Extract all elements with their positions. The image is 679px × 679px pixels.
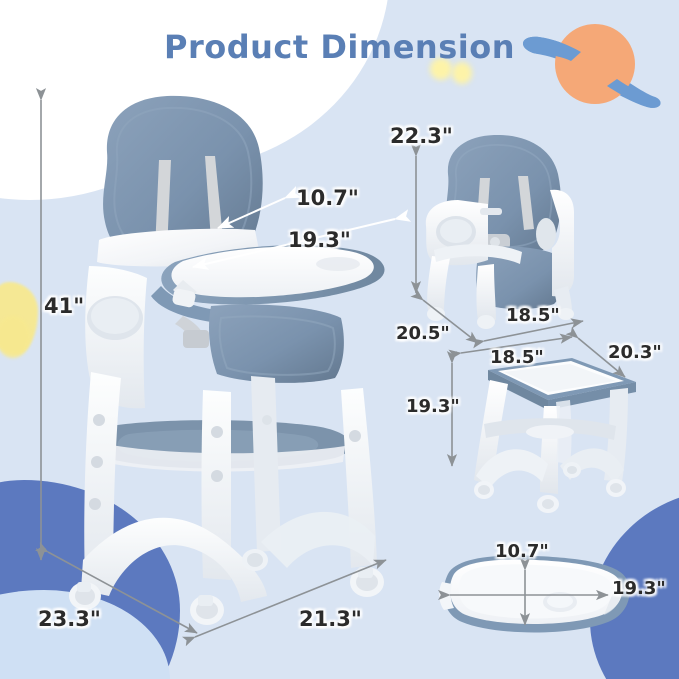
dimension-arrows: .ln { stroke:#8d9296; stroke-width:1.6; … [0, 0, 679, 679]
dimension-label-booster-depth: 20.5" [396, 323, 450, 344]
dimension-label-booster-width: 18.5" [506, 305, 560, 326]
dimension-label-chair-tray-depth: 10.7" [296, 186, 359, 210]
dimension-label-table-height: 19.3" [406, 396, 460, 417]
dimension-label-chair-base-depth: 23.3" [38, 607, 101, 631]
dimension-label-table-width: 18.5" [490, 347, 544, 368]
dimension-label-chair-base-width: 21.3" [299, 607, 362, 631]
dimension-label-booster-height: 22.3" [390, 124, 453, 148]
dimension-label-tray-width: 19.3" [612, 578, 666, 599]
dimension-label-table-depth: 20.3" [608, 342, 662, 363]
dimension-label-tray-depth: 10.7" [495, 541, 549, 562]
product-dimension-infographic: Product Dimension [0, 0, 679, 679]
dimension-label-chair-tray-width: 19.3" [288, 228, 351, 252]
dimension-label-chair-height: 41" [44, 294, 84, 318]
